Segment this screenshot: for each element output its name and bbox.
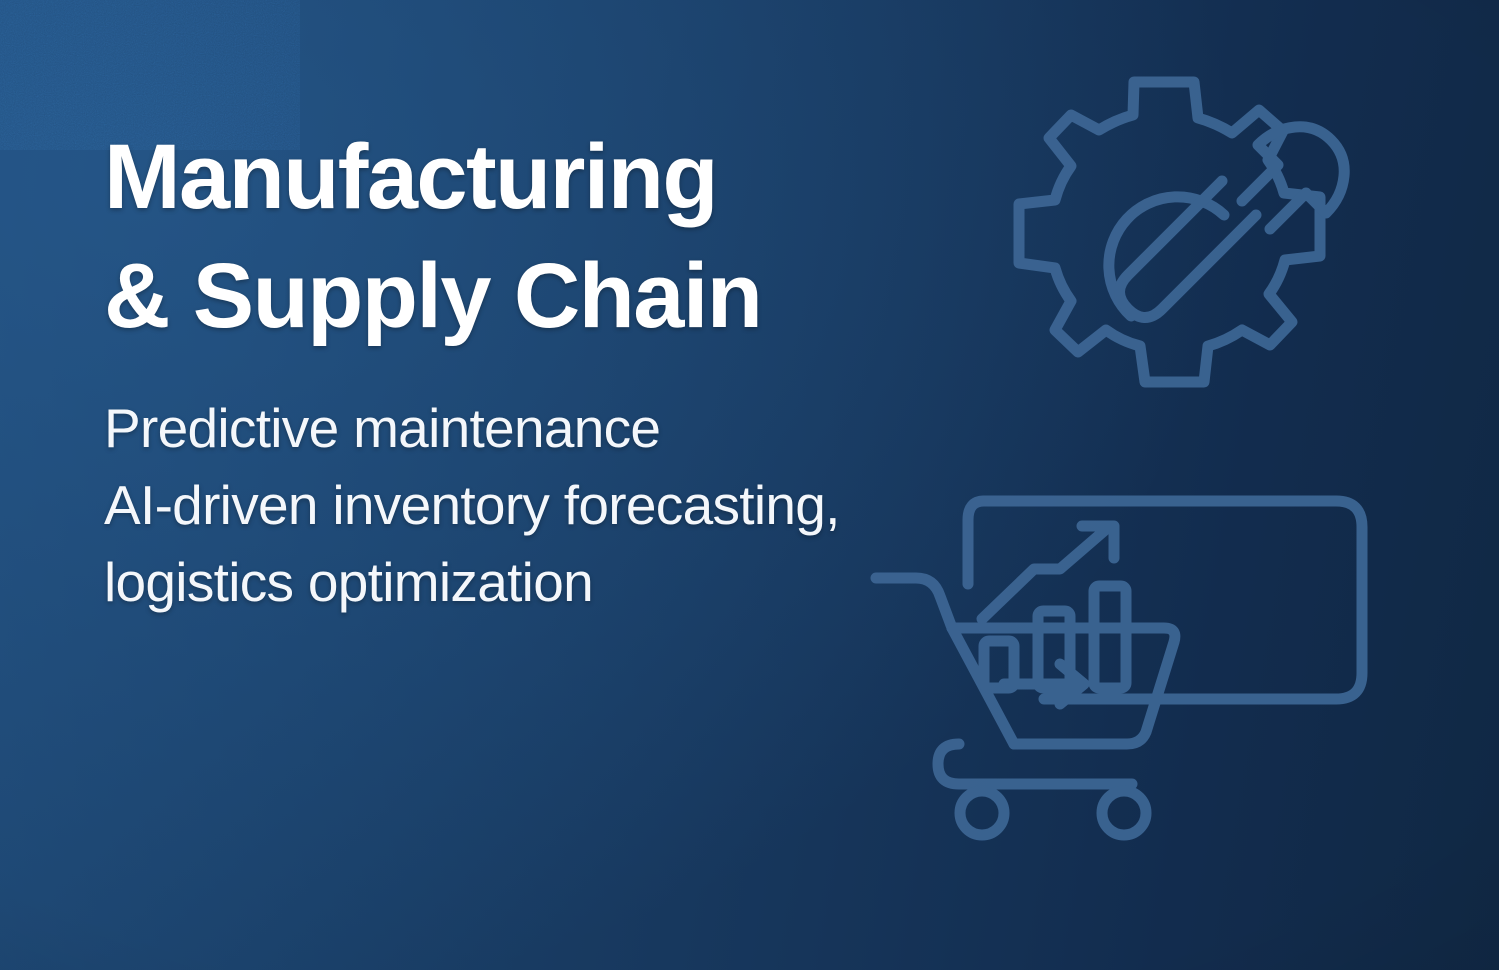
slide-text-block: Manufacturing & Supply Chain Predictive … bbox=[104, 118, 1044, 621]
page-subtitle: Predictive maintenance AI-driven invento… bbox=[104, 390, 1044, 621]
gear-wrench-icon bbox=[1006, 72, 1358, 402]
page-title: Manufacturing & Supply Chain bbox=[104, 118, 1044, 356]
slide-canvas: Manufacturing & Supply Chain Predictive … bbox=[0, 0, 1499, 970]
